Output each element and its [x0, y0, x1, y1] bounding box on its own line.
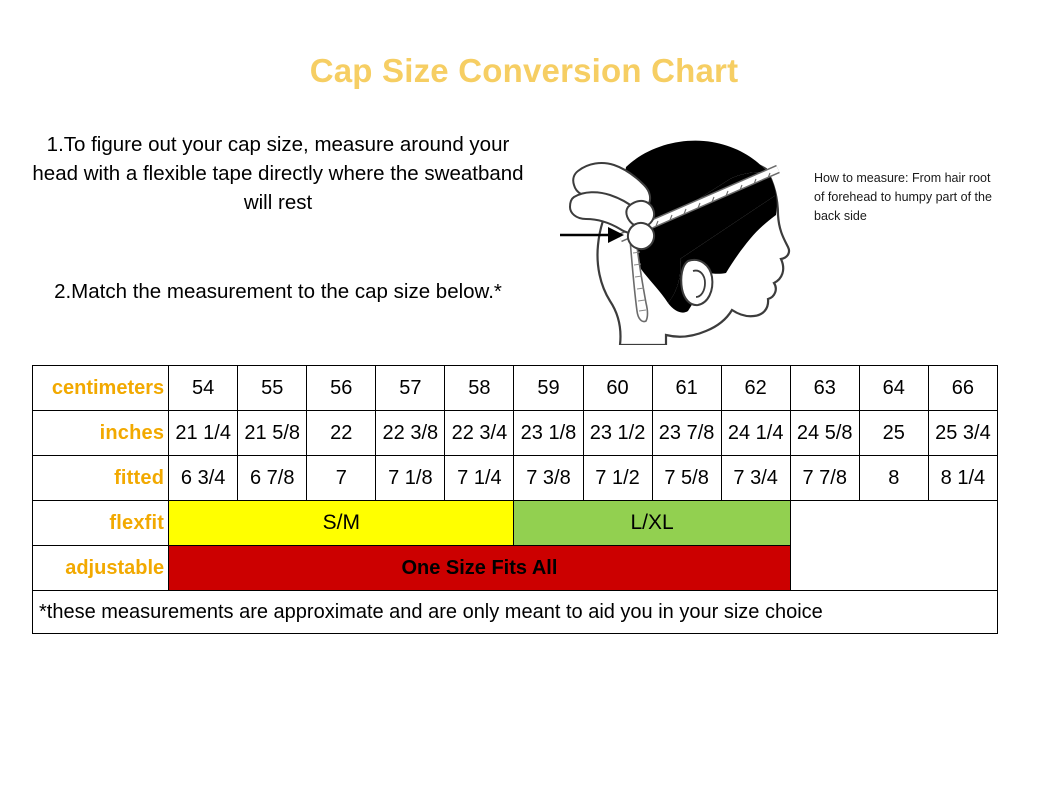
head-measurement-illustration [560, 113, 810, 345]
cell-cm-6: 59 [514, 366, 583, 411]
row-label-centimeters: centimeters [33, 366, 169, 411]
head-profile-icon [560, 113, 810, 345]
cell-in-2: 21 5/8 [238, 411, 307, 456]
blank-flexfit-a [790, 501, 928, 546]
cell-cm-5: 58 [445, 366, 514, 411]
band-lxl: L/XL [514, 501, 790, 546]
row-label-inches: inches [33, 411, 169, 456]
cell-in-3: 22 [307, 411, 376, 456]
cell-in-5: 22 3/4 [445, 411, 514, 456]
band-sm: S/M [169, 501, 514, 546]
table-row-footnote: *these measurements are approximate and … [33, 591, 998, 634]
cell-ft-9: 7 3/4 [721, 456, 790, 501]
cell-in-11: 25 [859, 411, 928, 456]
cell-ft-11: 8 [859, 456, 928, 501]
band-one-size-fits-all: One Size Fits All [169, 546, 791, 591]
blank-adjustable-b [928, 546, 997, 591]
cell-ft-8: 7 5/8 [652, 456, 721, 501]
cell-ft-2: 6 7/8 [238, 456, 307, 501]
cell-cm-4: 57 [376, 366, 445, 411]
blank-flexfit-b [928, 501, 997, 546]
cell-cm-1: 54 [169, 366, 238, 411]
row-label-flexfit: flexfit [33, 501, 169, 546]
blank-adjustable-a [790, 546, 928, 591]
cell-ft-6: 7 3/8 [514, 456, 583, 501]
page-title: Cap Size Conversion Chart [0, 52, 1048, 90]
table-row-flexfit: flexfit S/M L/XL [33, 501, 998, 546]
cell-cm-12: 66 [928, 366, 997, 411]
cell-ft-10: 7 7/8 [790, 456, 859, 501]
row-label-adjustable: adjustable [33, 546, 169, 591]
table-footnote: *these measurements are approximate and … [33, 591, 998, 634]
table-row-fitted: fitted 6 3/4 6 7/8 7 7 1/8 7 1/4 7 3/8 7… [33, 456, 998, 501]
cell-cm-7: 60 [583, 366, 652, 411]
cell-ft-12: 8 1/4 [928, 456, 997, 501]
row-label-fitted: fitted [33, 456, 169, 501]
instruction-step-1: 1.To figure out your cap size, measure a… [28, 130, 528, 217]
cell-cm-8: 61 [652, 366, 721, 411]
instruction-step-2: 2.Match the measurement to the cap size … [28, 277, 528, 306]
measure-caption: How to measure: From hair root of forehe… [814, 169, 1004, 226]
cell-in-10: 24 5/8 [790, 411, 859, 456]
cell-ft-3: 7 [307, 456, 376, 501]
cell-ft-4: 7 1/8 [376, 456, 445, 501]
cell-in-12: 25 3/4 [928, 411, 997, 456]
table-row-centimeters: centimeters 54 55 56 57 58 59 60 61 62 6… [33, 366, 998, 411]
cell-in-8: 23 7/8 [652, 411, 721, 456]
cell-ft-7: 7 1/2 [583, 456, 652, 501]
table-row-inches: inches 21 1/4 21 5/8 22 22 3/8 22 3/4 23… [33, 411, 998, 456]
cap-size-table: centimeters 54 55 56 57 58 59 60 61 62 6… [32, 365, 998, 634]
cell-cm-2: 55 [238, 366, 307, 411]
cell-in-9: 24 1/4 [721, 411, 790, 456]
cell-in-1: 21 1/4 [169, 411, 238, 456]
cell-cm-3: 56 [307, 366, 376, 411]
cell-ft-1: 6 3/4 [169, 456, 238, 501]
cell-cm-11: 64 [859, 366, 928, 411]
cell-cm-10: 63 [790, 366, 859, 411]
cell-in-6: 23 1/8 [514, 411, 583, 456]
cell-ft-5: 7 1/4 [445, 456, 514, 501]
cell-cm-9: 62 [721, 366, 790, 411]
cell-in-7: 23 1/2 [583, 411, 652, 456]
table-row-adjustable: adjustable One Size Fits All [33, 546, 998, 591]
cell-in-4: 22 3/8 [376, 411, 445, 456]
